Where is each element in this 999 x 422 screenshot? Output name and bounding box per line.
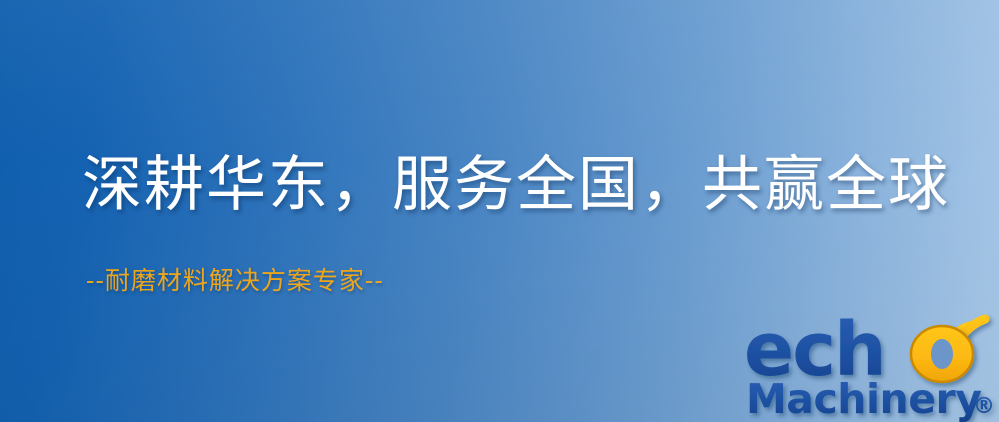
logo-registered-mark: ® xyxy=(973,394,995,419)
logo-o-inner xyxy=(931,339,953,369)
echo-machinery-logo: ech Machinery ® xyxy=(742,296,999,422)
banner-subheadline: --耐磨材料解决方案专家-- xyxy=(86,266,384,296)
promo-banner: 深耕华东，服务全国，共赢全球 --耐磨材料解决方案专家-- xyxy=(0,0,999,422)
banner-headline: 深耕华东，服务全国，共赢全球 xyxy=(82,152,950,218)
logo-tagline: Machinery xyxy=(746,375,981,422)
